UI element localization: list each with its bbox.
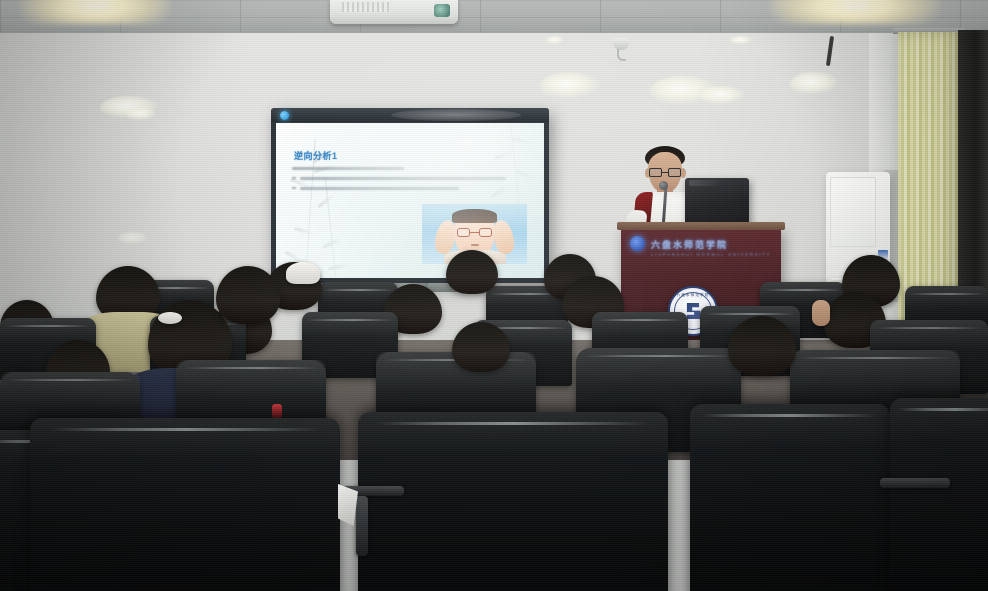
audience-head-ponytail-c [216,266,280,324]
audience-head-front-right [728,316,796,376]
chair-armrest-right [880,478,950,488]
illustration-hair [452,209,497,223]
ceiling-projector [330,0,458,24]
red-bottle[interactable] [272,404,282,419]
seal-text-top: 六盘水师范学院 [670,293,716,298]
display-glare [391,109,521,121]
chair-highlight-seam [702,414,878,417]
podium-university-name-en: LIUPANSHUI NORMAL UNIVERSITY [651,252,771,257]
projector-lens-icon [434,4,450,17]
podium-university-name-cn: 六盘水师范学院 [651,238,728,251]
foreground-chair-far-right[interactable] [890,398,988,591]
ceiling-light-right [770,0,940,24]
microphone-icon [659,181,668,190]
illustration-glasses-icon [457,228,492,237]
doorway[interactable] [958,30,988,330]
illustration-mouth [471,244,479,246]
lecture-hall-photo: 逆向分析1 [0,0,988,591]
power-led-icon [280,111,289,120]
slide-body-text [292,167,507,197]
presenter-glasses-icon [649,168,681,178]
audience-head-cap [286,262,320,284]
podium-university-name: 六盘水师范学院 [651,238,761,250]
foreground-chair-center-left[interactable] [30,418,340,591]
chair-highlight-seam [377,422,650,425]
foreground-chair-right[interactable] [690,404,890,591]
projector-vent [342,2,390,12]
audience-hairtie [158,312,182,324]
audience-head-center-b [446,250,498,294]
university-logo-mark-icon [630,236,645,251]
chair-highlight-seam [898,408,988,411]
foreground-chair-center[interactable] [358,412,668,591]
audience-hand-phone [812,300,830,326]
slide-title: 逆向分析1 [294,149,338,162]
ceiling-light-left [20,0,170,24]
wall-sensor-icon [613,38,629,50]
audience-head-front-mid [452,322,510,372]
air-conditioner-front-panel [830,177,876,247]
podium-desktop [617,222,785,230]
presentation-slide: 逆向分析1 [276,123,544,278]
wall-display[interactable]: 逆向分析1 [271,108,549,283]
chair-armrest-center [356,496,368,556]
chair-highlight-seam [49,428,322,431]
